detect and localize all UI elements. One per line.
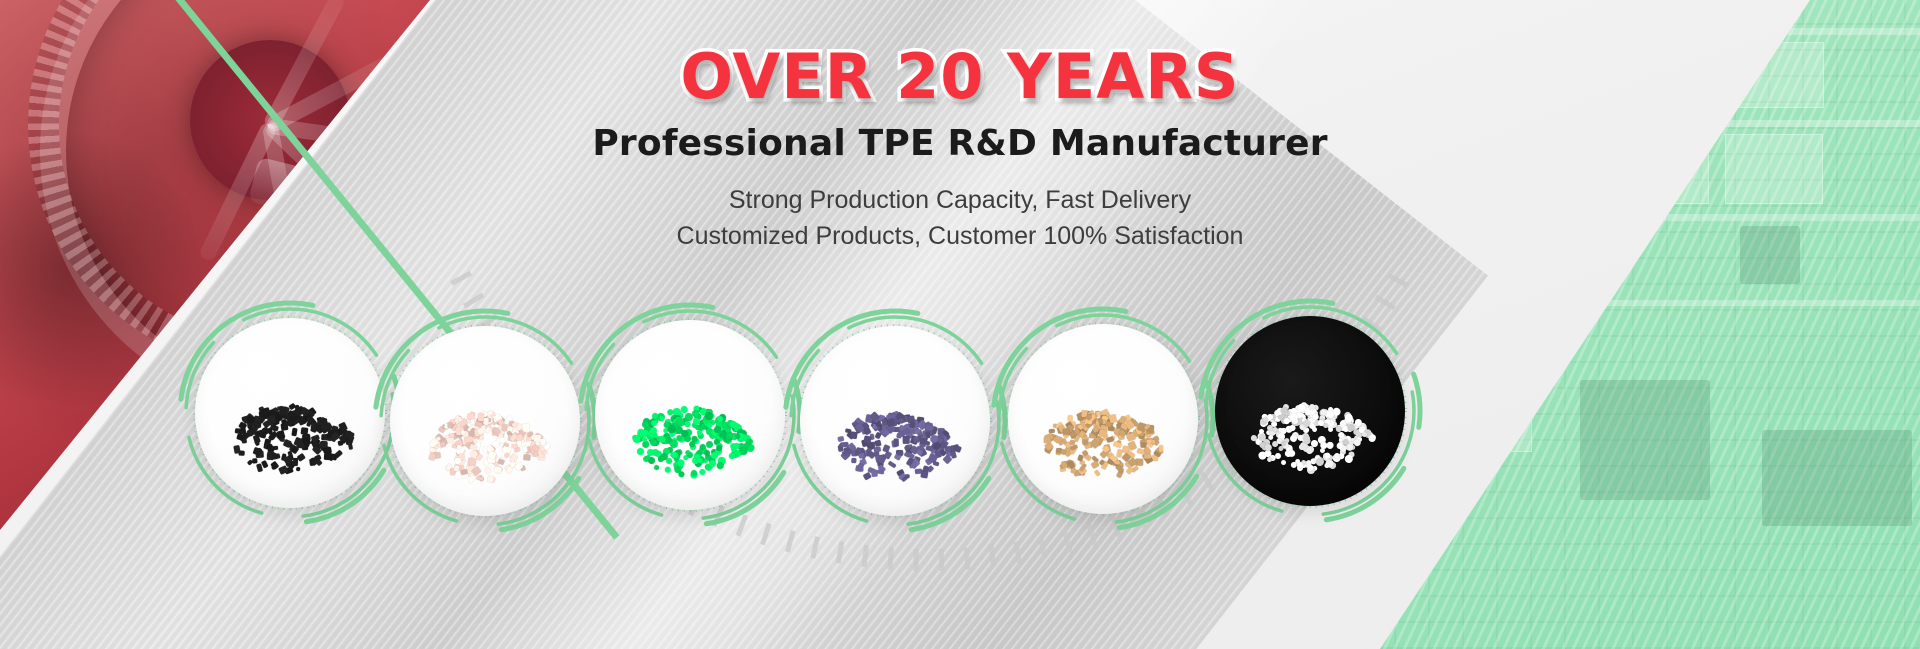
product-dish-purple-tpe-pellets[interactable]: purple-tpe-pellets xyxy=(800,326,990,516)
hero-banner: OVER 20 YEARS Professional TPE R&D Manuf… xyxy=(0,0,1920,649)
product-dish-green-tpe-pellets[interactable]: green-tpe-pellets xyxy=(595,320,785,510)
pellet-pile xyxy=(829,386,961,478)
product-dish-tan-wood-tpe-pellets[interactable]: tan-wood-tpe-pellets xyxy=(1008,324,1198,514)
dish-plate xyxy=(195,318,385,508)
dish-plate xyxy=(390,326,580,516)
dish-plate xyxy=(1215,316,1405,506)
dish-plate xyxy=(595,320,785,510)
pellet-pile xyxy=(1244,376,1376,468)
pellet-pile xyxy=(1037,384,1169,476)
product-dish-black-tpe-pellets[interactable]: black-tpe-pellets xyxy=(195,318,385,508)
dish-plate xyxy=(800,326,990,516)
pellet-pile xyxy=(224,378,356,470)
dish-plate xyxy=(1008,324,1198,514)
pellet-pile xyxy=(419,386,551,478)
pellet-pile xyxy=(624,380,756,472)
product-dish-pink-tpe-pellets[interactable]: pink-tpe-pellets xyxy=(390,326,580,516)
product-dish-clear-tpe-pellets[interactable]: clear-tpe-pellets xyxy=(1215,316,1405,506)
product-dish-row: black-tpe-pellets pink-tpe-pellets green… xyxy=(0,288,1920,618)
